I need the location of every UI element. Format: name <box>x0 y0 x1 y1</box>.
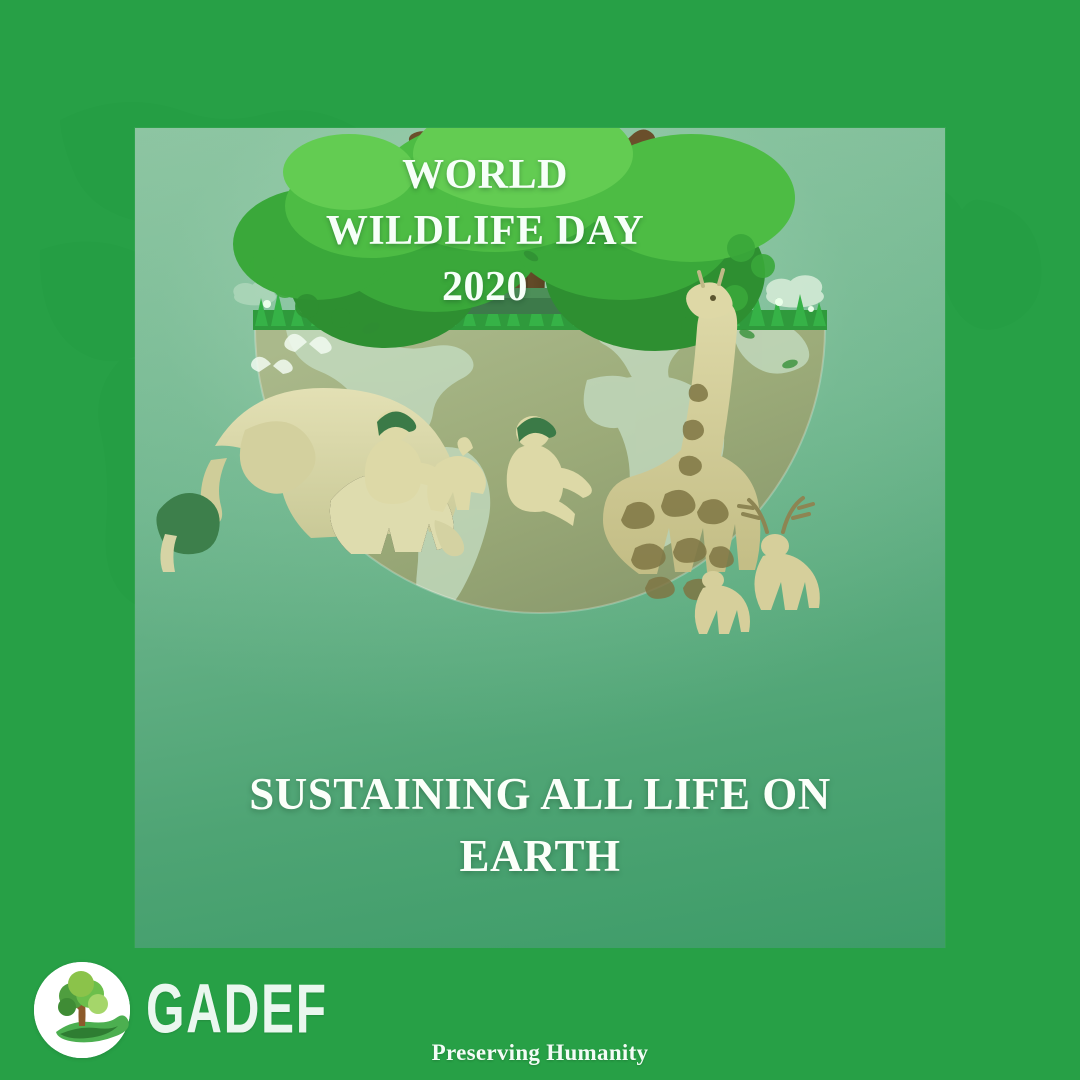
footer-tagline: Preserving Humanity <box>0 1040 1080 1066</box>
headline-line-2: WILDLIFE DAY <box>135 204 835 260</box>
tagline-line-1: SUSTAINING ALL LIFE ON <box>249 769 831 819</box>
poster-headline: WORLD WILDLIFE DAY 2020 <box>135 148 835 316</box>
tagline-line-2: EARTH <box>460 831 621 881</box>
brand-name: GADEF <box>146 975 328 1044</box>
poster-tagline: SUSTAINING ALL LIFE ON EARTH <box>175 763 905 887</box>
headline-line-1: WORLD <box>135 148 835 204</box>
footer-band: GADEF Preserving Humanity <box>0 948 1080 1080</box>
poster-canvas: WORLD WILDLIFE DAY 2020 SUSTAINING ALL L… <box>0 0 1080 1080</box>
headline-line-3: 2020 <box>135 260 835 316</box>
artwork-panel: WORLD WILDLIFE DAY 2020 SUSTAINING ALL L… <box>135 128 945 948</box>
